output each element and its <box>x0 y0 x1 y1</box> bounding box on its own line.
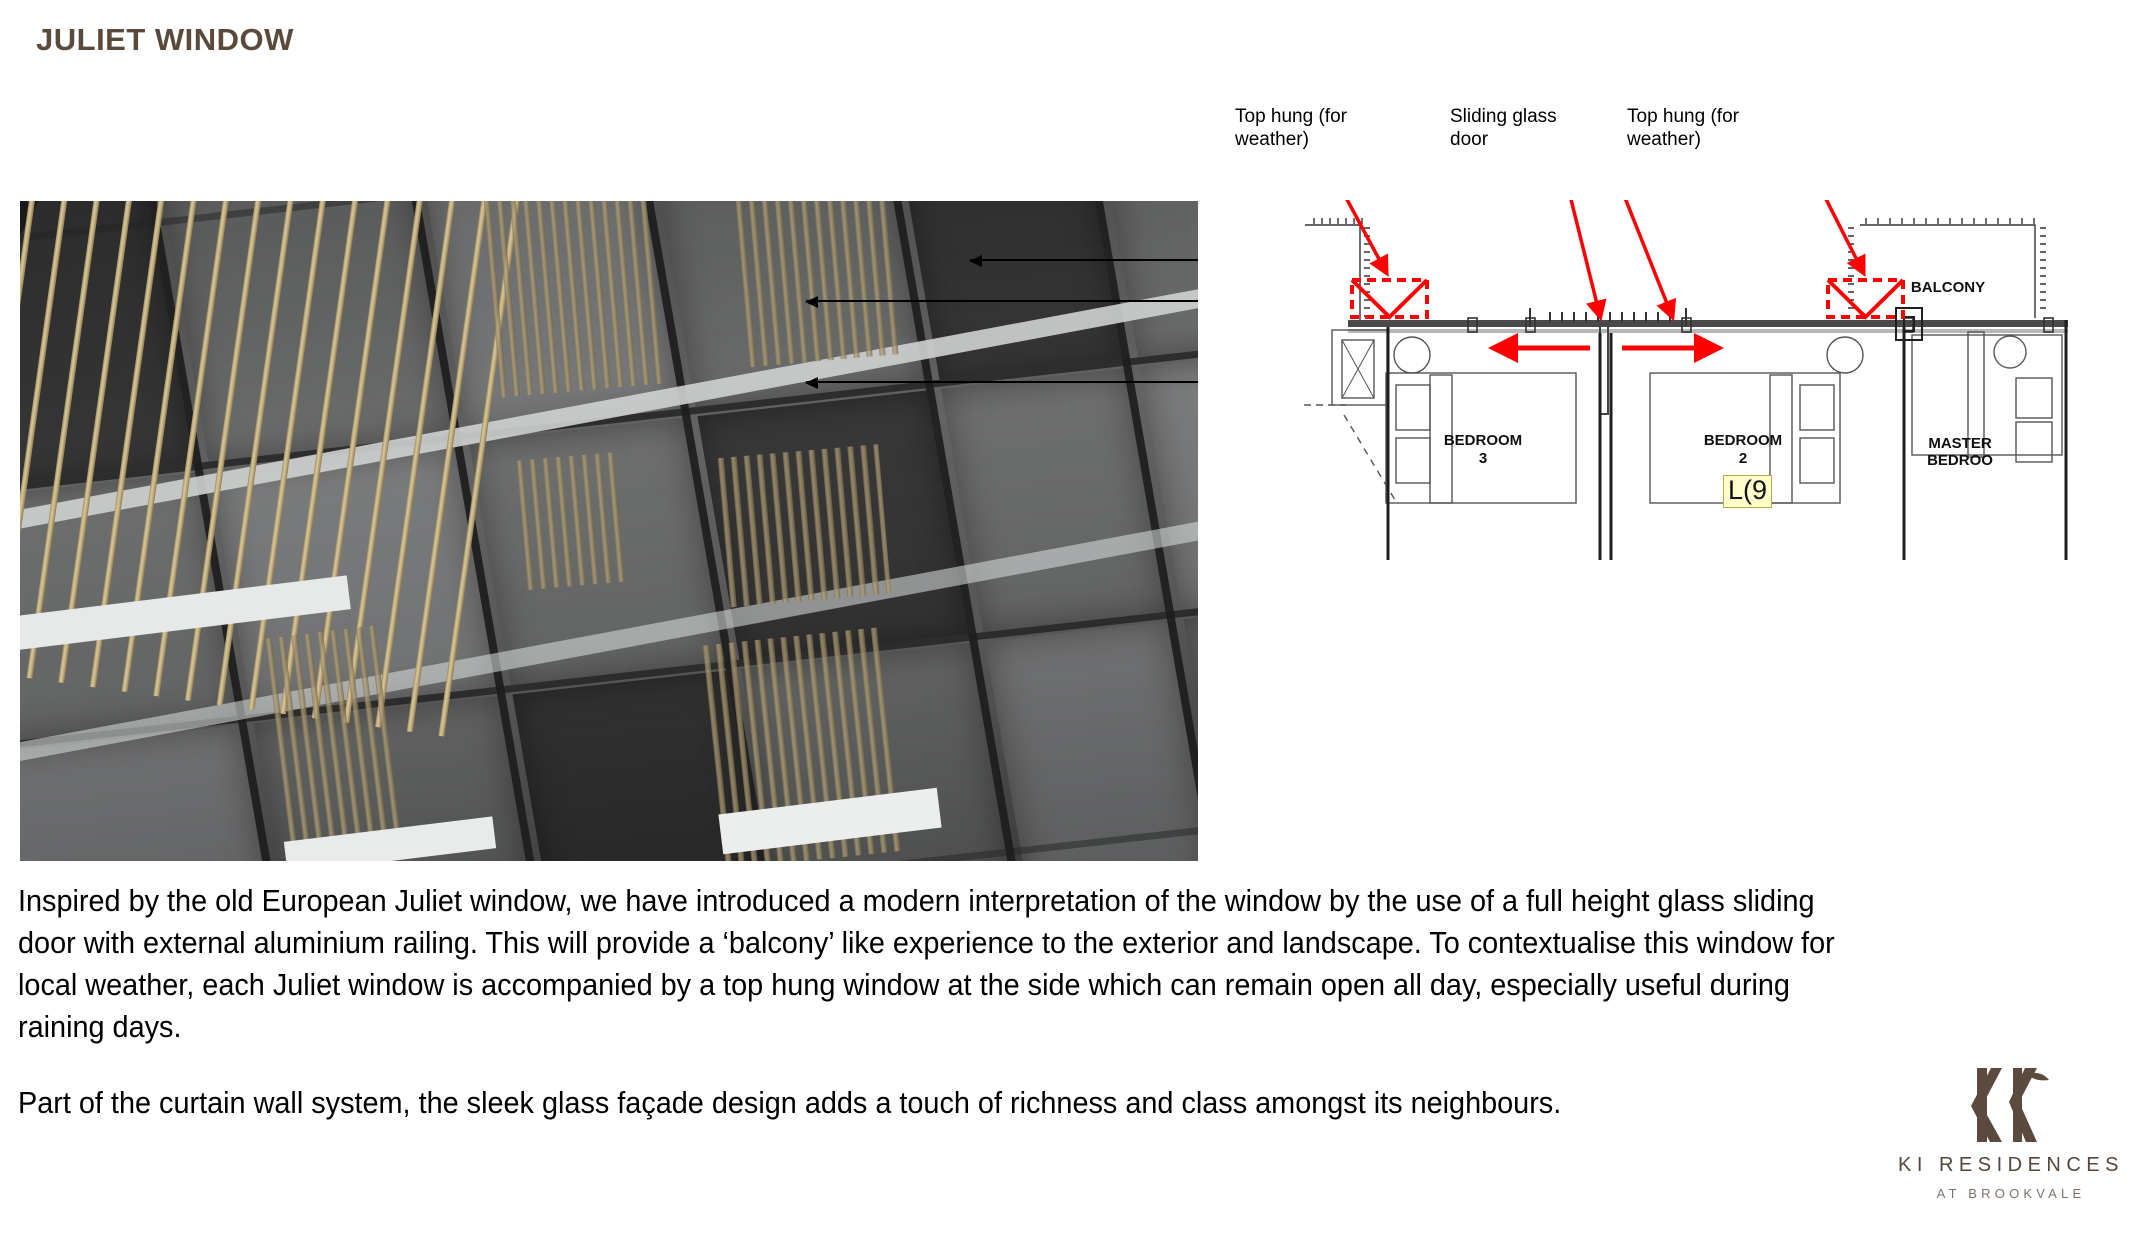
label-bedroom-3-line1: BEDROOM <box>1444 432 1522 449</box>
label-bedroom-2-line1: BEDROOM <box>1704 432 1782 449</box>
ki-monogram-icon <box>1886 1066 2136 1144</box>
facade-wall-line <box>1348 320 2068 333</box>
brand-subtitle: AT BROOKVALE <box>1886 1186 2136 1201</box>
callout-top-hung-right: Top hung (for weather) <box>1627 105 1777 151</box>
arrow-head-icon <box>969 255 982 267</box>
render-leader-line-2 <box>806 300 1198 302</box>
body-paragraph-1: Inspired by the old European Juliet wind… <box>18 880 1841 1048</box>
callout-right-label: Top hung (for weather) <box>1627 106 1739 150</box>
wall-hatching <box>1305 218 2046 320</box>
top-hung-symbol-left <box>1352 280 1427 317</box>
top-hung-symbol-right <box>1828 280 1903 317</box>
juliet-railing-right-mid <box>714 444 891 608</box>
bedroom-3-furniture <box>1304 330 1576 503</box>
brand-logo: KI RESIDENCES AT BROOKVALE <box>1886 1066 2136 1201</box>
plan-tag-highlight: L(9 <box>1723 475 1772 508</box>
label-balcony: BALCONY <box>1911 279 1985 296</box>
render-leader-line-1 <box>970 259 1198 261</box>
label-master-bedroom-line2: BEDROO <box>1927 452 1993 469</box>
floor-plan-svg: BEDROOM 3 BEDROOM 2 MASTER BEDROO BALCON… <box>1300 200 2110 560</box>
callout-sliding-glass-door: Sliding glass door <box>1450 105 1590 151</box>
label-bedroom-3-line2: 3 <box>1479 450 1487 467</box>
page-title: JULIET WINDOW <box>36 22 294 58</box>
brand-name: KI RESIDENCES <box>1886 1154 2136 1177</box>
ki-monogram-svg <box>1951 1066 2071 1144</box>
callout-center-label: Sliding glass door <box>1450 106 1557 150</box>
body-paragraph-2: Part of the curtain wall system, the sle… <box>18 1082 1841 1124</box>
label-bedroom-2-line2: 2 <box>1739 450 1747 467</box>
render-leader-line-3 <box>806 381 1198 383</box>
juliet-railing-upper-mid <box>480 201 667 398</box>
callout-left-label: Top hung (for weather) <box>1235 106 1347 150</box>
callout-top-hung-left: Top hung (for weather) <box>1235 105 1385 151</box>
floor-plan-diagram: BEDROOM 3 BEDROOM 2 MASTER BEDROO BALCON… <box>1300 200 2110 560</box>
arrow-head-icon <box>805 296 818 308</box>
red-leader-arrows <box>1315 200 1863 316</box>
juliet-railing-right-upper <box>730 201 905 368</box>
juliet-railing-center-lower <box>513 451 634 590</box>
body-copy: Inspired by the old European Juliet wind… <box>18 880 1841 1124</box>
arrow-head-icon <box>805 377 818 389</box>
label-master-bedroom-line1: MASTER <box>1928 435 1992 452</box>
